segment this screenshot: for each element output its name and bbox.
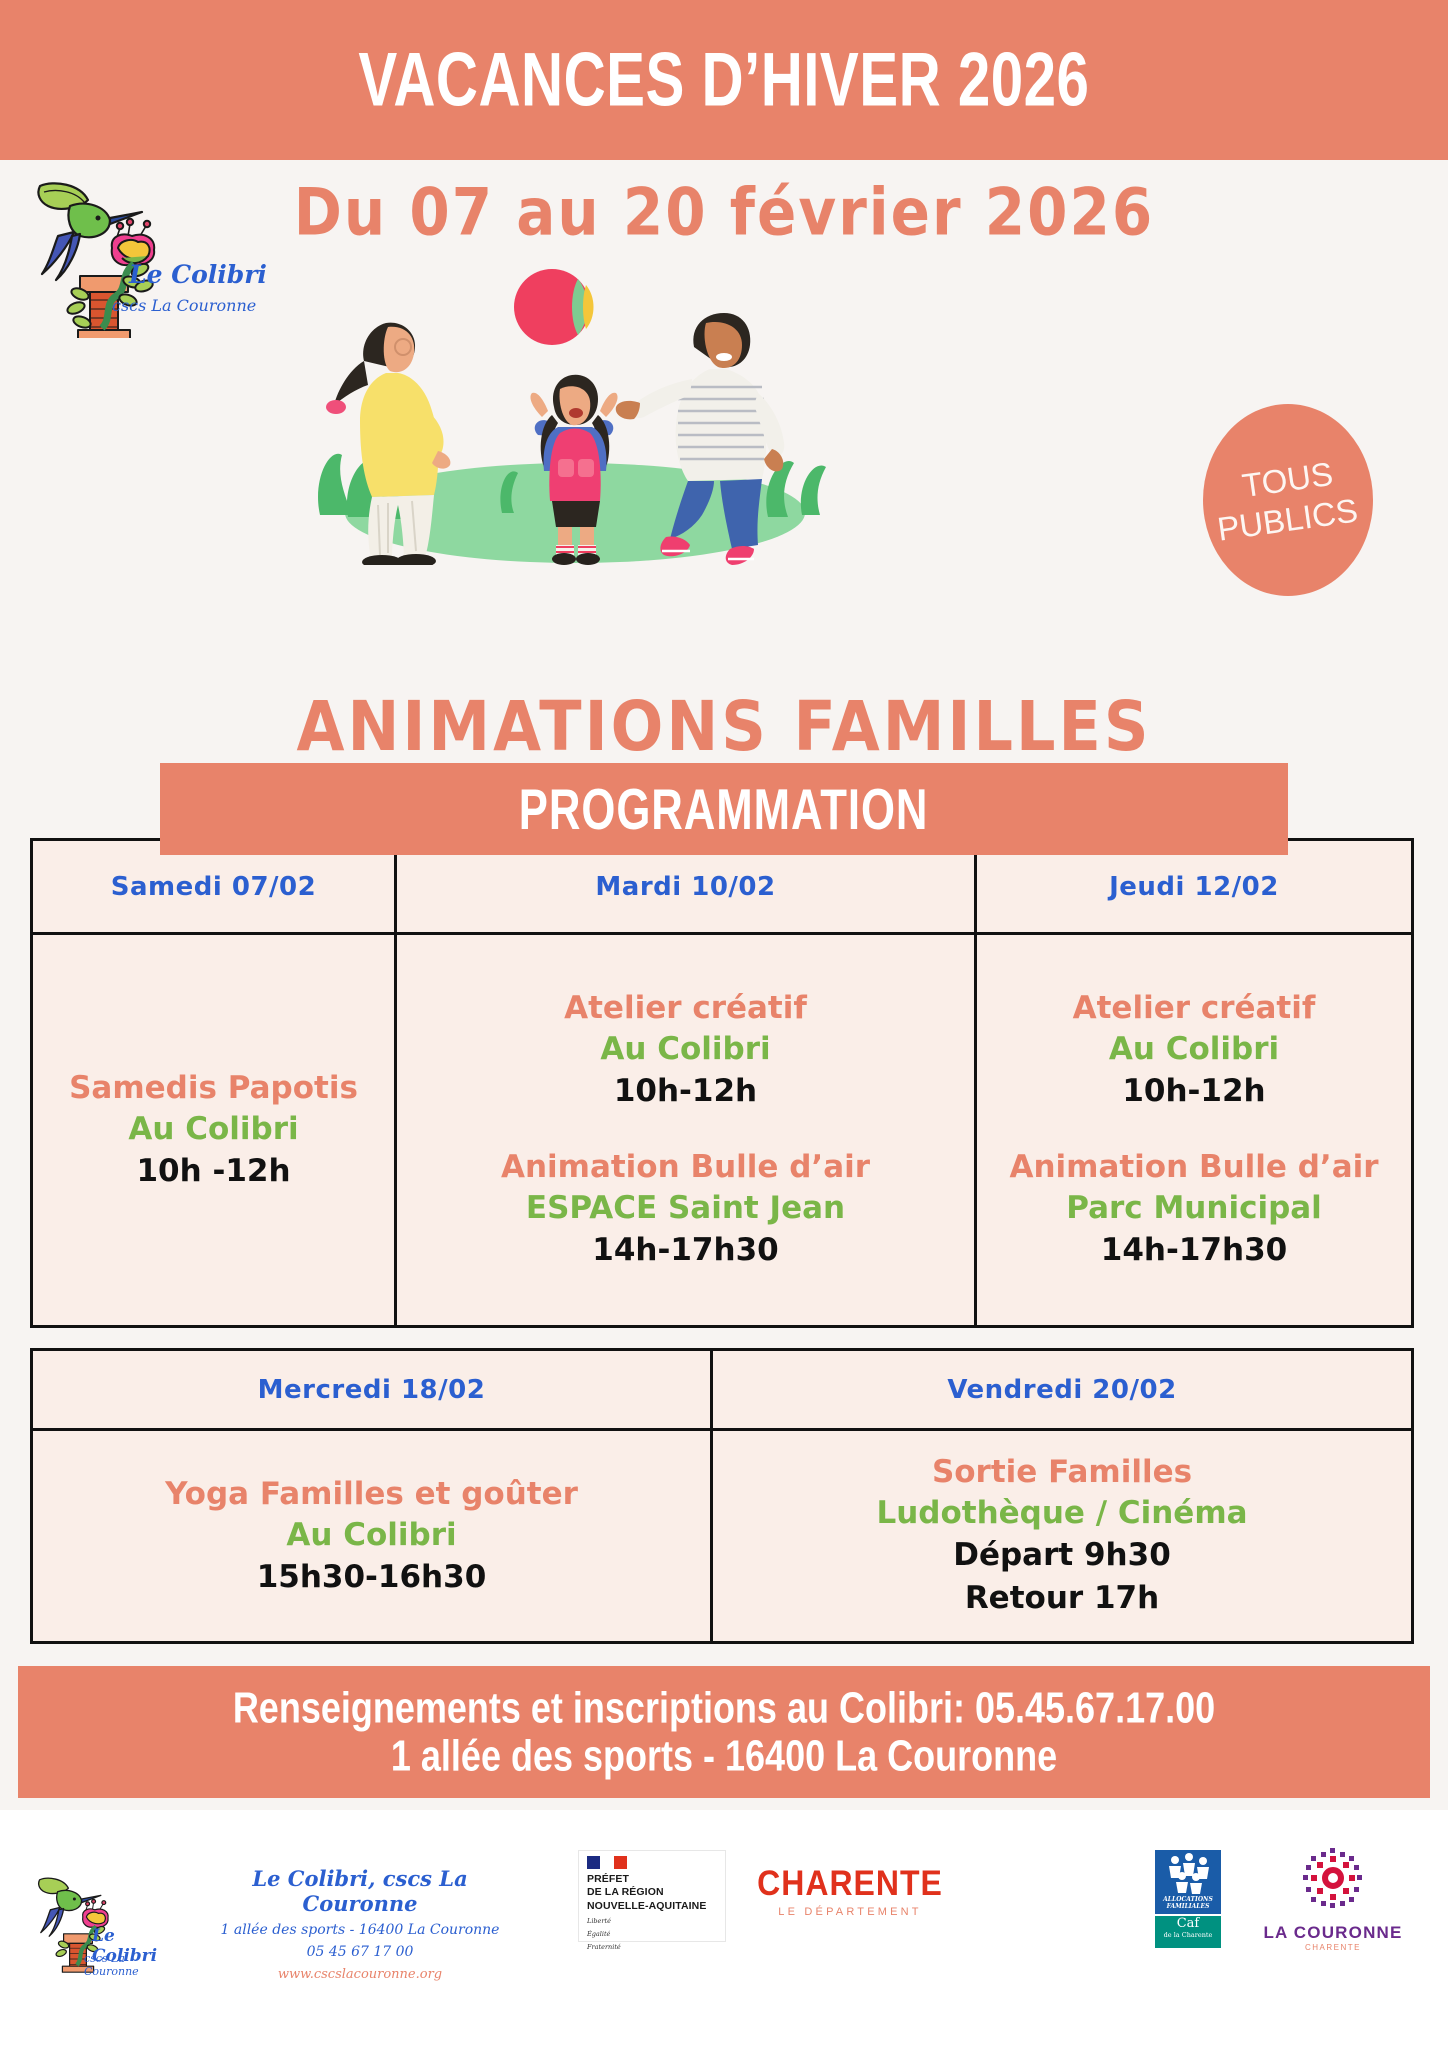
event-title: Yoga Familles et goûter: [39, 1474, 704, 1515]
footer-address: 1 allée des sports - 16400 La Couronne: [195, 1922, 525, 1938]
la-couronne-subtitle: CHARENTE: [1248, 1943, 1418, 1952]
event-place: Ludothèque / Cinéma: [719, 1493, 1405, 1534]
crown-circle-icon: [1298, 1848, 1368, 1914]
main-title: ANIMATIONS FAMILLES: [0, 686, 1448, 766]
caf-region: de la Charente: [1155, 1931, 1221, 1939]
event-time: 14h-17h30: [403, 1229, 968, 1272]
schedule-table-week-2: Mercredi 18/02 Yoga Familles et goûter A…: [30, 1348, 1414, 1644]
programmation-banner: PROGRAMMATION: [160, 763, 1288, 855]
caf-top: ALLOCATIONSFAMILIALES: [1155, 1850, 1221, 1914]
event-title: Animation Bulle d’air: [983, 1147, 1405, 1188]
logo-name: Le Colibri: [129, 260, 267, 289]
poster: VACANCES D’HIVER 2026 Du 07 au 20 févrie…: [0, 0, 1448, 2048]
event-block: Animation Bulle d’air ESPACE Saint Jean …: [403, 1147, 968, 1272]
programmation-label: PROGRAMMATION: [519, 775, 929, 843]
event-time: Départ 9h30: [719, 1534, 1405, 1577]
footer-org-name: Le Colibri, cscs La Couronne: [195, 1866, 525, 1916]
event-title: Atelier créatif: [403, 988, 968, 1029]
prefet-line-2: DE LA RÉGION: [587, 1886, 717, 1899]
prefet-motto-2: Égalité: [587, 1930, 717, 1939]
la-couronne-name: LA COURONNE: [1248, 1923, 1418, 1943]
family-playing-ball-icon: [290, 265, 850, 565]
schedule-column: Samedi 07/02 Samedis Papotis Au Colibri …: [33, 841, 397, 1325]
footer-phone: 05 45 67 17 00: [195, 1944, 525, 1960]
event-place: Parc Municipal: [983, 1188, 1405, 1229]
la-couronne-logo: LA COURONNE CHARENTE: [1248, 1848, 1418, 1952]
column-header: Mardi 10/02: [397, 841, 974, 935]
family-illustration: [290, 265, 850, 565]
tous-publics-badge: TOUS PUBLICS: [1203, 404, 1373, 596]
schedule-table-week-1: Samedi 07/02 Samedis Papotis Au Colibri …: [30, 838, 1414, 1328]
contact-line-1: Renseignements et inscriptions au Colibr…: [233, 1683, 1215, 1733]
event-time: 10h-12h: [403, 1070, 968, 1113]
logo-subtitle: cscs La Couronne: [112, 296, 256, 315]
event-time: 10h-12h: [983, 1070, 1405, 1113]
column-header: Samedi 07/02: [33, 841, 394, 935]
footer-logo-subtitle: cscs La Couronne: [84, 1952, 180, 1978]
prefet-motto-3: Fraternité: [587, 1943, 717, 1952]
prefet-motto-1: Liberté: [587, 1917, 717, 1926]
top-banner: VACANCES D’HIVER 2026: [0, 0, 1448, 160]
event-time-return: Retour 17h: [719, 1577, 1405, 1620]
column-cell: Atelier créatif Au Colibri 10h-12h Anima…: [397, 935, 974, 1325]
column-cell: Sortie Familles Ludothèque / Cinéma Dépa…: [713, 1431, 1411, 1641]
caf-name: Caf: [1155, 1916, 1221, 1931]
column-header: Mercredi 18/02: [33, 1351, 710, 1431]
prefet-line-1: PRÉFET: [587, 1873, 717, 1886]
caf-title: ALLOCATIONSFAMILIALES: [1155, 1897, 1221, 1911]
event-title: Samedis Papotis: [39, 1068, 388, 1109]
footer-colibri-logo: Le Colibri cscs La Couronne: [30, 1848, 180, 1998]
event-block: Yoga Familles et goûter Au Colibri 15h30…: [39, 1474, 704, 1599]
event-title: Atelier créatif: [983, 988, 1405, 1029]
event-block: Animation Bulle d’air Parc Municipal 14h…: [983, 1147, 1405, 1272]
event-time: 14h-17h30: [983, 1229, 1405, 1272]
caf-bottom: Caf de la Charente: [1155, 1916, 1221, 1948]
event-place: Au Colibri: [983, 1029, 1405, 1070]
event-time: 10h -12h: [39, 1150, 388, 1193]
colibri-logo: Le Colibri cscs La Couronne: [24, 178, 274, 338]
caf-logo: ALLOCATIONSFAMILIALES Caf de la Charente: [1155, 1850, 1221, 1946]
badge-line-2: PUBLICS: [1215, 490, 1360, 550]
schedule-column: Vendredi 20/02 Sortie Familles Ludothèqu…: [713, 1351, 1411, 1641]
schedule-column: Jeudi 12/02 Atelier créatif Au Colibri 1…: [977, 841, 1411, 1325]
footer-info: Le Colibri, cscs La Couronne 1 allée des…: [195, 1866, 525, 1982]
event-title: Sortie Familles: [719, 1452, 1405, 1493]
page-title: VACANCES D’HIVER 2026: [358, 37, 1089, 124]
footer: Le Colibri cscs La Couronne Le Colibri, …: [0, 1810, 1448, 2048]
contact-line-2: 1 allée des sports - 16400 La Couronne: [391, 1731, 1057, 1781]
family-group-icon: [1155, 1850, 1221, 1896]
event-place: Au Colibri: [403, 1029, 968, 1070]
column-cell: Yoga Familles et goûter Au Colibri 15h30…: [33, 1431, 710, 1641]
schedule-column: Mardi 10/02 Atelier créatif Au Colibri 1…: [397, 841, 977, 1325]
event-block: Sortie Familles Ludothèque / Cinéma Dépa…: [719, 1452, 1405, 1619]
contact-banner: Renseignements et inscriptions au Colibr…: [18, 1666, 1430, 1798]
column-header: Jeudi 12/02: [977, 841, 1411, 935]
column-cell: Atelier créatif Au Colibri 10h-12h Anima…: [977, 935, 1411, 1325]
footer-website[interactable]: www.cscslacouronne.org: [195, 1967, 525, 1982]
charente-name: CHARENTE: [740, 1863, 960, 1904]
schedule-column: Mercredi 18/02 Yoga Familles et goûter A…: [33, 1351, 713, 1641]
event-title: Animation Bulle d’air: [403, 1147, 968, 1188]
french-flag-icon: [587, 1856, 627, 1869]
column-header: Vendredi 20/02: [713, 1351, 1411, 1431]
event-time: 15h30-16h30: [39, 1556, 704, 1599]
charente-subtitle: LE DÉPARTEMENT: [740, 1906, 960, 1918]
event-block: Samedis Papotis Au Colibri 10h -12h: [39, 1068, 388, 1193]
event-place: Au Colibri: [39, 1515, 704, 1556]
column-cell: Samedis Papotis Au Colibri 10h -12h: [33, 935, 394, 1325]
prefet-line-3: NOUVELLE-AQUITAINE: [587, 1900, 717, 1913]
event-place: ESPACE Saint Jean: [403, 1188, 968, 1229]
event-block: Atelier créatif Au Colibri 10h-12h: [403, 988, 968, 1113]
prefet-logo: PRÉFET DE LA RÉGION NOUVELLE-AQUITAINE L…: [578, 1850, 726, 1942]
charente-logo: CHARENTE LE DÉPARTEMENT: [740, 1865, 960, 1918]
event-block: Atelier créatif Au Colibri 10h-12h: [983, 988, 1405, 1113]
event-place: Au Colibri: [39, 1109, 388, 1150]
